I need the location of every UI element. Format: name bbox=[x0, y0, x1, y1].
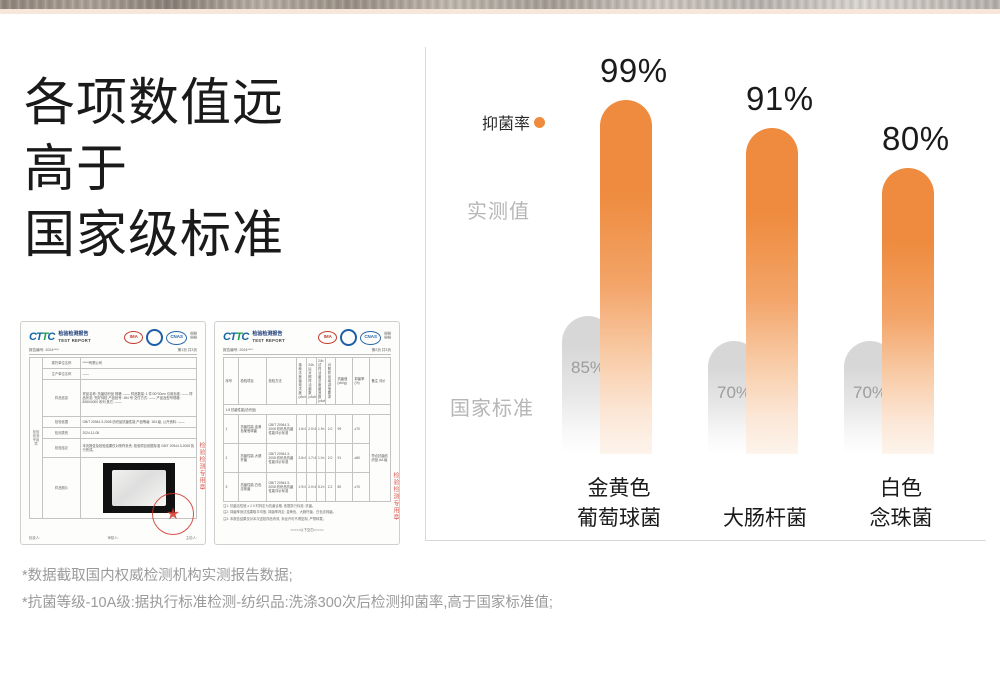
cell: GB/T 20944.3-2008 纺织品抗菌性能评价标准 bbox=[267, 444, 297, 473]
row-label: 检验结论 bbox=[43, 439, 81, 458]
footnote-item: *抗菌等级-10A级:据执行标准检测-纺织品:洗涤300次后检测抑菌率,高于国家… bbox=[22, 590, 553, 617]
measured-bar: 91% bbox=[746, 128, 798, 454]
cell: 2.6×10⁵ bbox=[297, 444, 307, 473]
col-header: 对照样品增减值 要求 bbox=[326, 358, 336, 405]
report-signatures: 批准人: 审核人: 主检人: bbox=[29, 535, 197, 540]
cnas-seal-icon: CNAS bbox=[360, 331, 381, 345]
test-report-gallery: CTTC 检验检测报告 TEST REPORT IMA CNAS ▤▤▤▤ 报告… bbox=[20, 321, 410, 545]
row-label: 检测类别 bbox=[43, 428, 81, 439]
cell: 1 bbox=[224, 415, 239, 444]
side-stamp-text: 检验检测专用章 bbox=[391, 472, 398, 521]
cell: ≥70 bbox=[353, 415, 370, 444]
row-value: 样品名称: 抗菌纺织品 规格: —— 样品数量: 1 件/30*30cm 引用标… bbox=[81, 380, 197, 417]
col-header: 抗菌值 (cfu/g) bbox=[336, 358, 353, 405]
report-header: CTTC 检验检测报告 TEST REPORT IMA CNAS ▤▤▤▤ bbox=[29, 329, 197, 346]
report-title-cn: 检验检测报告 bbox=[252, 332, 285, 338]
row-value: *****有限公司 bbox=[81, 358, 197, 369]
cnas-seal-icon: CNAS bbox=[166, 331, 187, 345]
approver-label: 批准人: bbox=[29, 535, 40, 540]
report-title-en: TEST REPORT bbox=[58, 338, 91, 344]
table-row: 生产单位名称 —— bbox=[30, 369, 197, 380]
report-subheader: 报告编号: 2024**** 第1页 共3页 bbox=[29, 346, 197, 355]
cell: GB/T 20944.3-2008 纺织品抗菌性能评价标准 bbox=[267, 473, 297, 502]
report-note: 注3: 本报告结果仅对本次送检样品有效, 未经许可不得复制, 严禁转载。 bbox=[223, 517, 391, 521]
top-texture-strip bbox=[0, 0, 1000, 9]
inspector-label: 主检人: bbox=[186, 535, 197, 540]
measured-bar-value: 80% bbox=[882, 120, 934, 158]
col-header: 24h 试样活菌浓度 菌液数 (cfu/mL) bbox=[316, 358, 326, 405]
page-title: 各项数值远 高于 国家级标准 bbox=[24, 70, 404, 268]
cell: 5.2×10⁵ bbox=[316, 473, 326, 502]
cell: 抗菌性能-白色念珠菌 bbox=[239, 473, 267, 502]
cttc-logo: CTTC bbox=[29, 332, 54, 343]
cnas-mark-icon bbox=[340, 329, 357, 346]
cell: 符合抗菌纺织品 AA 级 bbox=[370, 415, 391, 502]
footnote-list: *数据截取国内权威检测机构实测报告数据; *抗菌等级-10A级:据执行标准检测-… bbox=[22, 563, 553, 617]
bar-groups: 85%99%金黄色 葡萄球菌70%91%大肠杆菌70%80%白色 念珠菌 bbox=[426, 47, 986, 540]
row-label: 样品信息 bbox=[43, 380, 81, 417]
ima-mark-icon: IMA bbox=[318, 331, 337, 344]
cell: 抗菌性能-大肠杆菌 bbox=[239, 444, 267, 473]
cell: 3 bbox=[224, 473, 239, 502]
report-number: 报告编号: 2024**** bbox=[29, 348, 59, 353]
row-value: 本页报告及检验结果仅对来样负责, 检验项目依据标准 GB/T 20944.3-2… bbox=[81, 439, 197, 458]
table-row: 1 抗菌性能-金黄色葡萄球菌 GB/T 20944.3-2008 纺织品抗菌性能… bbox=[224, 415, 391, 444]
report-results-table: 序号 检验项目 检验方法 接种浓度 菌液浓度 (cfu/mL) 24h 后对照样… bbox=[223, 357, 391, 502]
table-header-row: 序号 检验项目 检验方法 接种浓度 菌液浓度 (cfu/mL) 24h 后对照样… bbox=[224, 358, 391, 405]
cell: 1.0×10⁵ bbox=[316, 444, 326, 473]
col-header: 抑菌率 (%) bbox=[353, 358, 370, 405]
cell: 2.0×10⁶ bbox=[306, 473, 316, 502]
footnote-item: *数据截取国内权威检测机构实测报告数据; bbox=[22, 563, 553, 590]
row-value: —— bbox=[81, 369, 197, 380]
col-header: 序号 bbox=[224, 358, 239, 405]
ima-mark-icon: IMA bbox=[124, 331, 143, 344]
test-report-card[interactable]: CTTC 检验检测报告 TEST REPORT IMA CNAS ▤▤▤▤ 报告… bbox=[214, 321, 400, 545]
cell: 91 bbox=[336, 444, 353, 473]
row-label: 生产单位名称 bbox=[43, 369, 81, 380]
col-header: 接种浓度 菌液浓度 (cfu/mL) bbox=[297, 358, 307, 405]
report-number: 报告编号: 2024**** bbox=[223, 348, 253, 353]
cell: 99 bbox=[336, 415, 353, 444]
col-header: 检验项目 bbox=[239, 358, 267, 405]
row-label: 检验依据 bbox=[43, 417, 81, 428]
table-row: 检验依据 GB/T 20944.3-2008 纺织品抗菌性能 产品等级: 184… bbox=[30, 417, 197, 428]
cell: 2.0 bbox=[326, 444, 336, 473]
report-title-block: 检验检测报告 TEST REPORT bbox=[58, 332, 91, 343]
row-value: GB/T 20944.3-2008 纺织品抗菌性能 产品等级: 184 级, 公… bbox=[81, 417, 197, 428]
antibacterial-chart: 抑菌率 实测值 国家标准 85%99%金黄色 葡萄球菌70%91%大肠杆菌70%… bbox=[425, 47, 986, 541]
report-note: 注2: 抑菌率测试结果取平均值, 抑菌率判定: 金黄色、大肠杆菌、白色念珠菌。 bbox=[223, 510, 391, 514]
report-pagination: 第1页 共3页 bbox=[178, 348, 197, 353]
cnas-mark-icon bbox=[146, 329, 163, 346]
report-title-en: TEST REPORT bbox=[252, 338, 285, 344]
col-header: 检验方法 bbox=[267, 358, 297, 405]
report-side-label: 检验检测专用章 bbox=[30, 358, 43, 519]
qr-mark-icon: ▤▤▤▤ bbox=[190, 332, 197, 343]
cell: 抗菌性能-金黄色葡萄球菌 bbox=[239, 415, 267, 444]
cell: 1.7×10⁶ bbox=[306, 444, 316, 473]
cell: 2.2 bbox=[326, 473, 336, 502]
cell: 1.9×10⁴ bbox=[316, 415, 326, 444]
report-end-mark: =====以下空白===== bbox=[223, 527, 391, 532]
report-pagination: 第2页 共3页 bbox=[372, 348, 391, 353]
cttc-logo: CTTC bbox=[223, 332, 248, 343]
category-label: 金黄色 葡萄球菌 bbox=[544, 474, 694, 534]
cell: 2 bbox=[224, 444, 239, 473]
cell: 2.0 bbox=[326, 415, 336, 444]
accreditation-marks: IMA CNAS ▤▤▤▤ bbox=[124, 329, 197, 346]
measured-bar-value: 99% bbox=[600, 52, 652, 90]
reviewer-label: 审核人: bbox=[107, 535, 118, 540]
side-stamp-text: 检验检测专用章 bbox=[197, 442, 204, 491]
official-stamp-icon: ★ bbox=[152, 493, 194, 535]
table-row: 3 抗菌性能-白色念珠菌 GB/T 20944.3-2008 纺织品抗菌性能评价… bbox=[224, 473, 391, 502]
qr-mark-icon: ▤▤▤▤ bbox=[384, 332, 391, 343]
table-row: 2 抗菌性能-大肠杆菌 GB/T 20944.3-2008 纺织品抗菌性能评价标… bbox=[224, 444, 391, 473]
table-row: 检验结论 本页报告及检验结果仅对来样负责, 检验项目依据标准 GB/T 2094… bbox=[30, 439, 197, 458]
table-row: 样品信息 样品名称: 抗菌纺织品 规格: —— 样品数量: 1 件/30*30c… bbox=[30, 380, 197, 417]
table-row: 检验检测专用章 委托单位名称 *****有限公司 bbox=[30, 358, 197, 369]
measured-bar: 80% bbox=[882, 168, 934, 454]
row-label: 委托单位名称 bbox=[43, 358, 81, 369]
accreditation-marks: IMA CNAS ▤▤▤▤ bbox=[318, 329, 391, 346]
table-row: 1.8 抗菌性能(纺织品) bbox=[224, 405, 391, 415]
report-note: 注1: 抗菌活性值 ≥ 2.0 时判定为抗菌合格, 依据执行标准: 抗菌。 bbox=[223, 504, 391, 508]
report-title-block: 检验检测报告 TEST REPORT bbox=[252, 332, 285, 343]
test-report-card[interactable]: CTTC 检验检测报告 TEST REPORT IMA CNAS ▤▤▤▤ 报告… bbox=[20, 321, 206, 545]
cell: 2.0×10⁶ bbox=[306, 415, 316, 444]
cell: GB/T 20944.3-2008 纺织品抗菌性能评价标准 bbox=[267, 415, 297, 444]
row-value: 2024-11-08 bbox=[81, 428, 197, 439]
table-row: 检测类别 2024-11-08 bbox=[30, 428, 197, 439]
measured-bar: 99% bbox=[600, 100, 652, 454]
cell: 1.9×10⁵ bbox=[297, 473, 307, 502]
chart-plot-area: 抑菌率 实测值 国家标准 85%99%金黄色 葡萄球菌70%91%大肠杆菌70%… bbox=[426, 47, 986, 540]
row-label: 样品照片 bbox=[43, 458, 81, 519]
col-header: 24h 后对照样活菌数 (cfu/mL) bbox=[306, 358, 316, 405]
category-label: 白色 念珠菌 bbox=[826, 474, 976, 534]
cell: ≥70 bbox=[353, 473, 370, 502]
report-header: CTTC 检验检测报告 TEST REPORT IMA CNAS ▤▤▤▤ bbox=[223, 329, 391, 346]
report-subheader: 报告编号: 2024**** 第2页 共3页 bbox=[223, 346, 391, 355]
section-row: 1.8 抗菌性能(纺织品) bbox=[224, 405, 391, 415]
cell: 80 bbox=[336, 473, 353, 502]
top-accent-band bbox=[0, 9, 1000, 14]
measured-bar-value: 91% bbox=[746, 80, 798, 118]
cell: 1.6×10⁵ bbox=[297, 415, 307, 444]
category-label: 大肠杆菌 bbox=[690, 504, 840, 534]
report-title-cn: 检验检测报告 bbox=[58, 332, 91, 338]
col-header: 备注 评价 bbox=[370, 358, 391, 405]
cell: ≥80 bbox=[353, 444, 370, 473]
